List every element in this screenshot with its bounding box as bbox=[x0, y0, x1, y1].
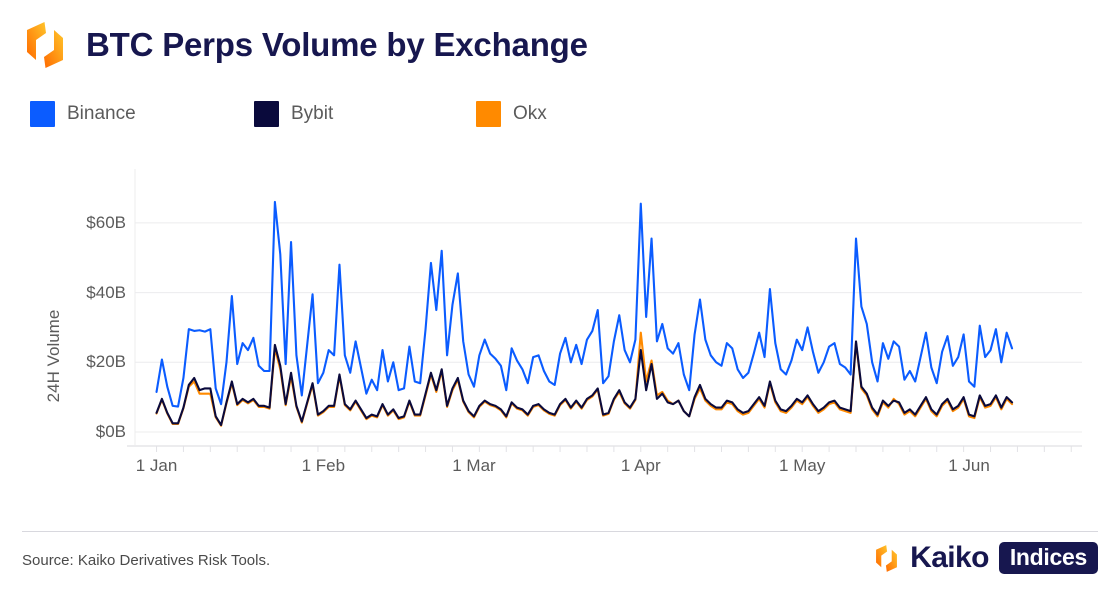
indices-badge: Indices bbox=[999, 542, 1098, 574]
kaiko-hex-logo-icon bbox=[22, 20, 68, 70]
x-tick-label: 1 Apr bbox=[621, 456, 661, 476]
legend-item-bybit[interactable]: Bybit bbox=[254, 101, 476, 127]
series-line-binance bbox=[157, 202, 1013, 407]
legend-swatch-bybit bbox=[254, 101, 279, 127]
legend-swatch-okx bbox=[476, 101, 501, 127]
legend-item-binance[interactable]: Binance bbox=[30, 101, 254, 127]
kaiko-indices-logo: Kaiko Indices bbox=[873, 542, 1098, 574]
x-tick-label: 1 Jan bbox=[136, 456, 178, 476]
legend-swatch-binance bbox=[30, 101, 55, 127]
x-tick-label: 1 Jun bbox=[948, 456, 990, 476]
legend-label-okx: Okx bbox=[513, 103, 547, 125]
legend-label-binance: Binance bbox=[67, 103, 136, 125]
legend-item-okx[interactable]: Okx bbox=[476, 101, 547, 127]
x-tick-label: 1 May bbox=[779, 456, 825, 476]
x-tick-label: 1 Feb bbox=[302, 456, 345, 476]
kaiko-hex-logo-icon bbox=[873, 544, 900, 573]
x-tick-label: 1 Mar bbox=[452, 456, 495, 476]
chart-legend: Binance Bybit Okx bbox=[30, 101, 547, 127]
kaiko-wordmark: Kaiko bbox=[910, 543, 989, 573]
chart-header: BTC Perps Volume by Exchange bbox=[22, 20, 588, 70]
legend-label-bybit: Bybit bbox=[291, 103, 333, 125]
chart-area: 24H Volume $0B$20B$40B$60B 1 Jan1 Feb1 M… bbox=[0, 150, 1120, 490]
source-note: Source: Kaiko Derivatives Risk Tools. bbox=[22, 552, 270, 569]
plot-lines bbox=[0, 150, 1120, 490]
footer-divider bbox=[22, 531, 1098, 532]
chart-page: BTC Perps Volume by Exchange Binance Byb… bbox=[0, 0, 1120, 596]
page-title: BTC Perps Volume by Exchange bbox=[86, 26, 588, 64]
